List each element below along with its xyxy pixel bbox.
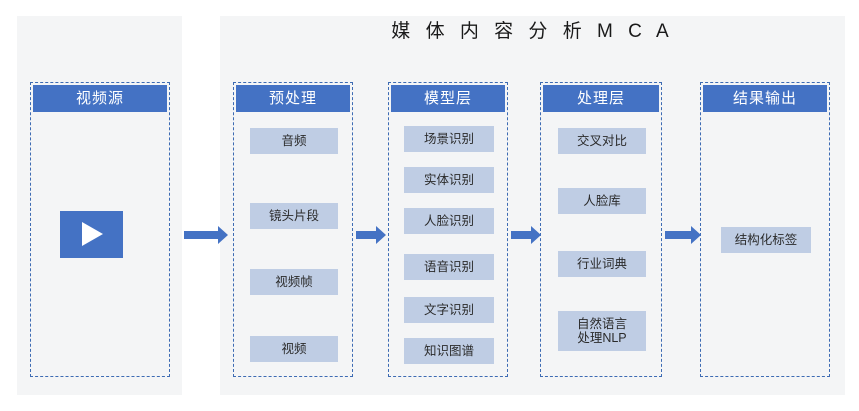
list-item[interactable]: 知识图谱	[404, 338, 494, 364]
play-triangle-icon	[82, 222, 103, 246]
stage-header-video-source: 视频源	[33, 85, 167, 112]
list-item[interactable]: 实体识别	[404, 167, 494, 193]
play-button-icon[interactable]	[60, 211, 123, 258]
stage-body-model-layer: 场景识别 实体识别 人脸识别 语音识别 文字识别 知识图谱	[389, 112, 507, 376]
stage-body-result-output: 结构化标签	[701, 112, 829, 376]
list-item[interactable]: 视频	[250, 336, 338, 362]
stage-column-preprocessing[interactable]: 预处理 音频 镜头片段 视频帧 视频	[233, 82, 353, 377]
arrow-preprocessing-to-model-icon	[356, 226, 386, 244]
arrow-processing-to-output-icon	[665, 226, 701, 244]
list-item[interactable]: 视频帧	[250, 269, 338, 295]
list-item[interactable]: 场景识别	[404, 126, 494, 152]
stage-column-processing-layer[interactable]: 处理层 交叉对比 人脸库 行业词典 自然语言 处理NLP	[540, 82, 662, 377]
diagram-canvas: 媒 体 内 容 分 析 M C A 视频源 预处理 音频 镜头片段 视频帧 视频…	[0, 0, 859, 411]
stage-column-model-layer[interactable]: 模型层 场景识别 实体识别 人脸识别 语音识别 文字识别 知识图谱	[388, 82, 508, 377]
arrow-model-to-processing-icon	[511, 226, 541, 244]
list-item[interactable]: 人脸库	[558, 188, 646, 214]
list-item[interactable]: 人脸识别	[404, 208, 494, 234]
list-item[interactable]: 语音识别	[404, 254, 494, 280]
list-item[interactable]: 行业词典	[558, 251, 646, 277]
stage-header-processing-layer: 处理层	[543, 85, 659, 112]
page-title: 媒 体 内 容 分 析 M C A	[220, 18, 845, 46]
stage-body-preprocessing: 音频 镜头片段 视频帧 视频	[234, 112, 352, 376]
list-item[interactable]: 自然语言 处理NLP	[558, 311, 646, 351]
stage-header-preprocessing: 预处理	[236, 85, 350, 112]
stage-header-result-output: 结果输出	[703, 85, 827, 112]
list-item[interactable]: 镜头片段	[250, 203, 338, 229]
stage-body-processing-layer: 交叉对比 人脸库 行业词典 自然语言 处理NLP	[541, 112, 661, 376]
stage-header-model-layer: 模型层	[391, 85, 505, 112]
list-item[interactable]: 交叉对比	[558, 128, 646, 154]
list-item[interactable]: 结构化标签	[721, 227, 811, 253]
arrow-source-to-preprocessing-icon	[184, 226, 228, 244]
list-item[interactable]: 音频	[250, 128, 338, 154]
stage-column-result-output[interactable]: 结果输出 结构化标签	[700, 82, 830, 377]
list-item[interactable]: 文字识别	[404, 297, 494, 323]
